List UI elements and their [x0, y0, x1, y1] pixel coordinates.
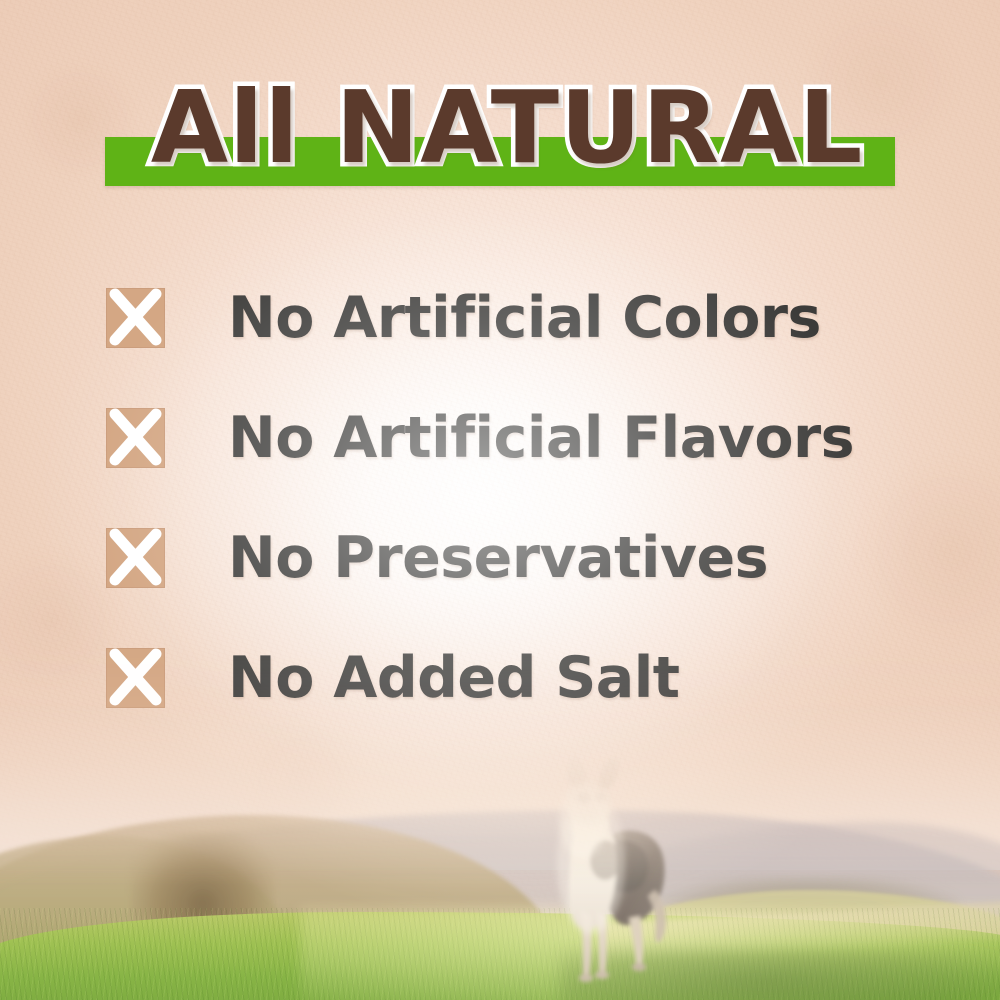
- x-mark-glyph: [106, 288, 165, 348]
- claim-label: No Preservatives: [228, 528, 768, 588]
- list-item: No Artificial Colors: [106, 258, 926, 378]
- claim-label: No Artificial Flavors: [228, 408, 854, 468]
- x-mark-icon: [106, 528, 165, 588]
- border-collie-dog: [543, 750, 683, 985]
- x-mark-icon: [106, 288, 165, 348]
- x-mark-glyph: [106, 408, 165, 468]
- page-title: All NATURAL: [119, 74, 895, 186]
- list-item: No Preservatives: [106, 498, 926, 618]
- product-feature-poster: All NATURAL No Artificial Colors No Arti…: [0, 0, 1000, 1000]
- landscape-photo: [0, 640, 1000, 1000]
- claim-label: No Artificial Colors: [228, 288, 821, 348]
- x-mark-icon: [106, 408, 165, 468]
- headline-block: All NATURAL: [105, 74, 895, 186]
- dog-silhouette: [543, 750, 683, 985]
- x-mark-glyph: [106, 528, 165, 588]
- list-item: No Artificial Flavors: [106, 378, 926, 498]
